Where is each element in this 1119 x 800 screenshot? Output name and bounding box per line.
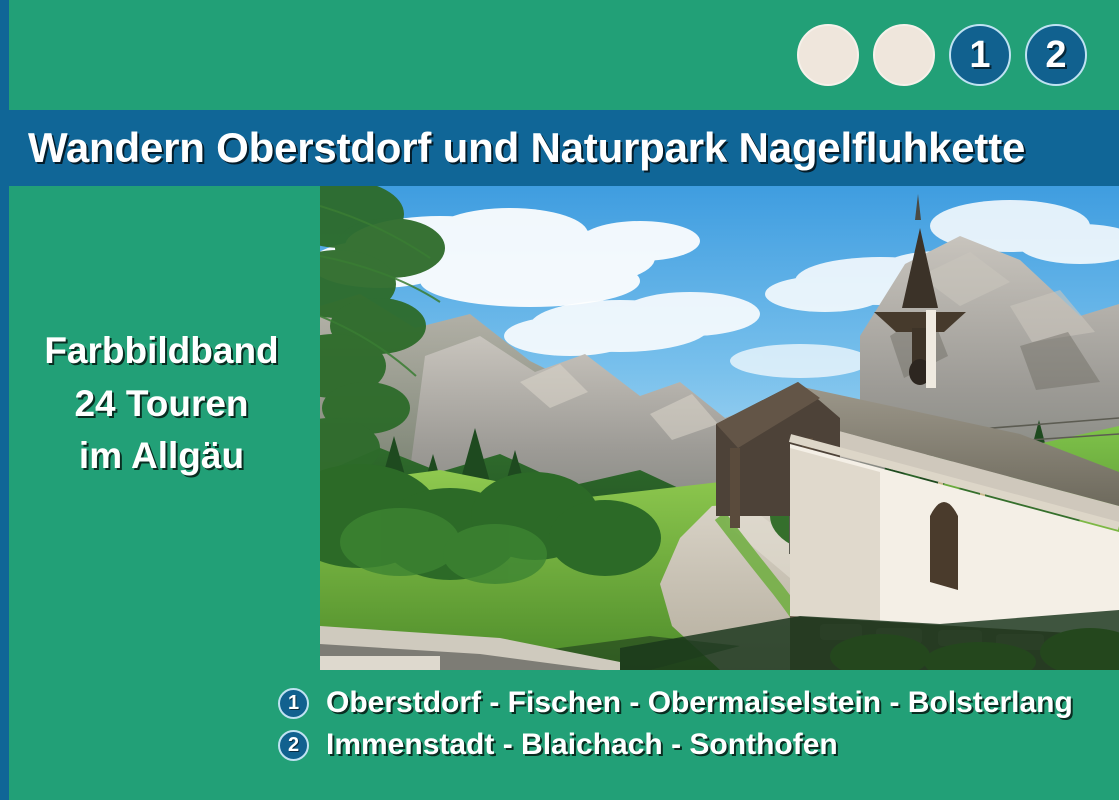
cover-photo bbox=[320, 186, 1119, 670]
book-cover: Johann Schubert 1 2 Wandern Oberstdorf u… bbox=[0, 0, 1119, 800]
route-row: 2 Immenstadt - Blaichach - Sonthofen bbox=[278, 726, 1073, 764]
subtitle-line-2: 24 Touren bbox=[9, 378, 314, 431]
badge-row: 1 2 bbox=[797, 24, 1087, 86]
spine-bar bbox=[0, 0, 9, 800]
route-badge-1: 1 bbox=[278, 688, 309, 719]
route-legend: 1 Oberstdorf - Fischen - Obermaiselstein… bbox=[278, 684, 1073, 768]
route-label-1: Oberstdorf - Fischen - Obermaiselstein -… bbox=[326, 686, 1073, 720]
subtitle-block: Farbbildband 24 Touren im Allgäu bbox=[9, 325, 314, 483]
badge-circle-cream-1 bbox=[797, 24, 859, 86]
badge-circle-2: 2 bbox=[1025, 24, 1087, 86]
subtitle-line-3: im Allgäu bbox=[9, 430, 314, 483]
route-badge-2: 2 bbox=[278, 730, 309, 761]
badge-circle-1: 1 bbox=[949, 24, 1011, 86]
route-label-2: Immenstadt - Blaichach - Sonthofen bbox=[326, 728, 838, 762]
route-row: 1 Oberstdorf - Fischen - Obermaiselstein… bbox=[278, 684, 1073, 722]
badge-circle-cream-2 bbox=[873, 24, 935, 86]
title-band: Wandern Oberstdorf und Naturpark Nagelfl… bbox=[0, 110, 1119, 186]
subtitle-line-1: Farbbildband bbox=[9, 325, 314, 378]
book-title: Wandern Oberstdorf und Naturpark Nagelfl… bbox=[28, 124, 1025, 172]
